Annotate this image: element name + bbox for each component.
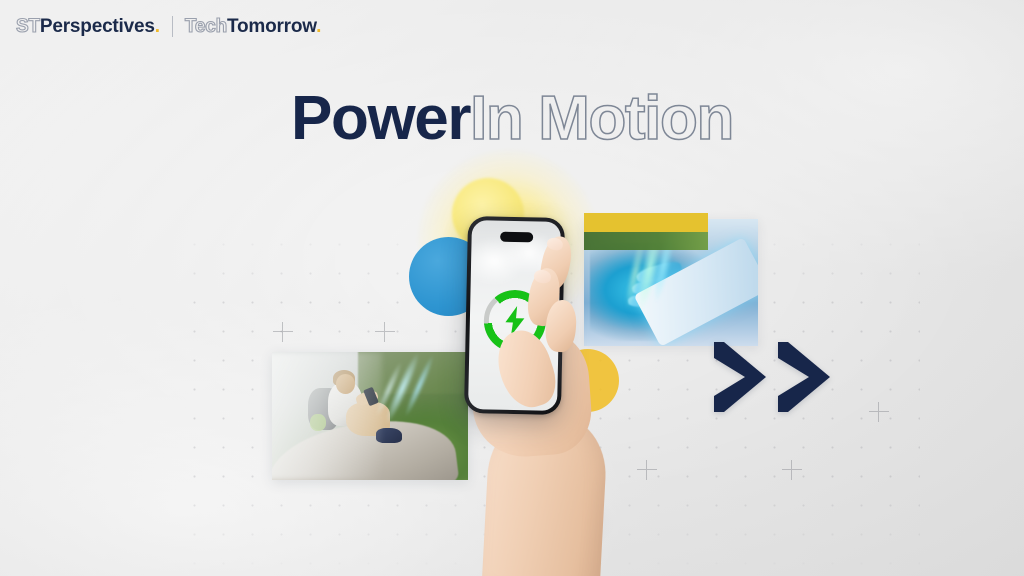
logo-st-perspectives[interactable]: STPerspectives. <box>16 17 160 36</box>
chevron-right-icon <box>776 342 832 412</box>
logo-tomorrow-dot: . <box>316 16 321 37</box>
logo-tech-tomorrow[interactable]: TechTomorrow. <box>185 17 321 36</box>
chevron-right-icon <box>712 342 768 412</box>
headline-outline-text: In Motion <box>470 84 733 153</box>
brand-lockup-bar: STPerspectives. TechTomorrow. <box>16 16 321 37</box>
logo-tomorrow-main: Tomorrow <box>227 16 316 37</box>
headline-solid-text: Power <box>291 84 470 153</box>
double-chevron-right[interactable] <box>712 342 832 412</box>
brand-divider <box>172 16 173 37</box>
slide-canvas: STPerspectives. TechTomorrow. PowerIn Mo… <box>0 0 1024 576</box>
headline: PowerIn Motion <box>0 88 1024 150</box>
dynamic-island <box>500 232 533 243</box>
logo-tech-prefix: Tech <box>185 16 227 37</box>
logo-perspectives-main: Perspectives <box>40 16 155 37</box>
logo-st-prefix: ST <box>16 16 40 37</box>
logo-perspectives-dot: . <box>155 16 160 37</box>
